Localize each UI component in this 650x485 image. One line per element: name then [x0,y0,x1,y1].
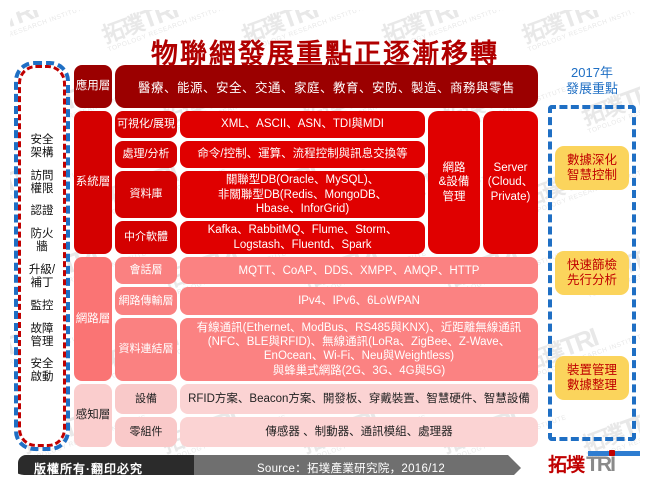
system-row-label-3: 中介軟體 [115,221,177,254]
network-row-label-1: 網路傳輸層 [115,287,177,314]
network-row-label-2: 資料連結層 [115,318,177,381]
system-side-box-1: Server(Cloud、Private) [483,111,538,254]
system-side-box-0: 網路&設備管理 [428,111,480,254]
focus-box-2: 裝置管理數據整理 [555,356,629,400]
layer-network-rows: 會話層MQTT、CoAP、DDS、XMPP、AMQP、HTTP網路傳輸層IPv4… [115,257,538,381]
slide-card: 拓璞TRITOPOLOGY RESEARCH INSTITUTE拓璞TRITOP… [10,10,640,475]
security-item-7: 安全啟動 [31,358,54,384]
logo-red-dot-icon [609,450,615,456]
focus-box-0: 數據深化智慧控制 [555,146,629,190]
layer-stack: 應用層 醫療、能源、安全、交通、家庭、教育、安防、製造、商務與零售 系統層 可視… [74,65,538,447]
system-row: 處理/分析命令/控制、運算、流程控制與訊息交換等 [115,141,425,168]
slide-root: 拓璞TRITOPOLOGY RESEARCH INSTITUTE拓璞TRITOP… [0,0,650,485]
system-row: 可視化/展現XML、ASCII、ASN、TDI與MDI [115,111,425,138]
security-column: 安全架構訪問權限認證防火牆升級/補丁監控故障管理安全啟動 [18,65,66,447]
layer-system: 系統層 可視化/展現XML、ASCII、ASN、TDI與MDI處理/分析命令/控… [74,111,538,254]
layer-network: 網路層 會話層MQTT、CoAP、DDS、XMPP、AMQP、HTTP網路傳輸層… [74,257,538,381]
diagram-stage: 安全架構訪問權限認證防火牆升級/補丁監控故障管理安全啟動 應用層 醫療、能源、安… [10,65,640,453]
system-row: 中介軟體Kafka、RabbitMQ、Flume、Storm、Logstash、… [115,221,425,254]
system-row-label-2: 資料庫 [115,171,177,218]
security-item-0: 安全架構 [31,134,54,160]
perception-row-value-1: 傳感器 、制動器、通訊模組、處理器 [180,417,538,447]
layer-perception-rows: 設備RFID方案、Beacon方案、開發板、穿戴裝置、智慧硬件、智慧設備零組件傳… [115,384,538,447]
network-row-value-2: 有線通訊(Ethernet、ModBus、RS485與KNX)、近距離無線通訊(… [180,318,538,381]
focus-box-1: 快速篩檢先行分析 [555,251,629,295]
perception-row: 零組件傳感器 、制動器、通訊模組、處理器 [115,417,538,447]
logo-tri-letters: TRI [586,453,614,476]
layer-system-label: 系統層 [74,111,112,254]
security-item-6: 故障管理 [31,323,54,349]
system-row-value-3: Kafka、RabbitMQ、Flume、Storm、Logstash、Flue… [180,221,425,254]
security-item-4: 升級/補丁 [29,264,55,290]
layer-system-rows: 可視化/展現XML、ASCII、ASN、TDI與MDI處理/分析命令/控制、運算… [115,111,425,254]
network-row-value-0: MQTT、CoAP、DDS、XMPP、AMQP、HTTP [180,257,538,284]
footer: 版權所有·翻印必究 Source：拓墣產業研究院，2016/12 拓墣 TRI … [10,453,640,475]
security-item-1: 訪問權限 [31,170,54,196]
logo-wordmark: 拓墣 TRI [548,454,614,475]
perception-row-value-0: RFID方案、Beacon方案、開發板、穿戴裝置、智慧硬件、智慧設備 [180,384,538,414]
security-item-3: 防火牆 [31,228,54,254]
system-row-value-2: 關聯型DB(Oracle、MySQL)、非關聯型DB(Redis、MongoDB… [180,171,425,218]
layer-perception: 感知層 設備RFID方案、Beacon方案、開發板、穿戴裝置、智慧硬件、智慧設備… [74,384,538,447]
security-item-5: 監控 [31,300,54,313]
perception-row-label-0: 設備 [115,384,177,414]
copyright-banner: 版權所有·翻印必究 [18,455,194,475]
system-row-label-0: 可視化/展現 [115,111,177,138]
system-row: 資料庫關聯型DB(Oracle、MySQL)、非關聯型DB(Redis、Mong… [115,171,425,218]
network-row: 網路傳輸層IPv4、IPv6、6LoWPAN [115,287,538,314]
layer-application: 應用層 醫療、能源、安全、交通、家庭、教育、安防、製造、商務與零售 [74,65,538,108]
system-row-value-0: XML、ASCII、ASN、TDI與MDI [180,111,425,138]
logo-chinese-text: 拓墣 [548,456,584,475]
layer-perception-label: 感知層 [74,384,112,447]
network-row: 會話層MQTT、CoAP、DDS、XMPP、AMQP、HTTP [115,257,538,284]
layer-network-label: 網路層 [74,257,112,381]
layer-system-side-boxes: 網路&設備管理Server(Cloud、Private) [428,111,538,254]
network-row-value-1: IPv4、IPv6、6LoWPAN [180,287,538,314]
source-banner: Source：拓墣產業研究院，2016/12 [194,455,508,475]
perception-row-label-1: 零組件 [115,417,177,447]
layer-application-label: 應用層 [74,65,112,108]
network-row: 資料連結層有線通訊(Ethernet、ModBus、RS485與KNX)、近距離… [115,318,538,381]
perception-row: 設備RFID方案、Beacon方案、開發板、穿戴裝置、智慧硬件、智慧設備 [115,384,538,414]
focus-column-boxes: 數據深化智慧控制快速篩檢先行分析裝置管理數據整理 [548,105,636,441]
system-row-label-1: 處理/分析 [115,141,177,168]
logo-tri-text: TRI [586,454,614,475]
security-item-2: 認證 [31,205,54,218]
focus-column: 2017年發展重點 數據深化智慧控制快速篩檢先行分析裝置管理數據整理 [546,65,638,447]
system-row-value-1: 命令/控制、運算、流程控制與訊息交換等 [180,141,425,168]
page-title: 物聯網發展重點正逐漸移轉 [10,32,640,71]
layer-application-content: 醫療、能源、安全、交通、家庭、教育、安防、製造、商務與零售 [115,65,538,108]
network-row-label-0: 會話層 [115,257,177,284]
tri-logo: 拓墣 TRI TOPOLOGY RESEARCH INSTITUTE [526,451,636,475]
